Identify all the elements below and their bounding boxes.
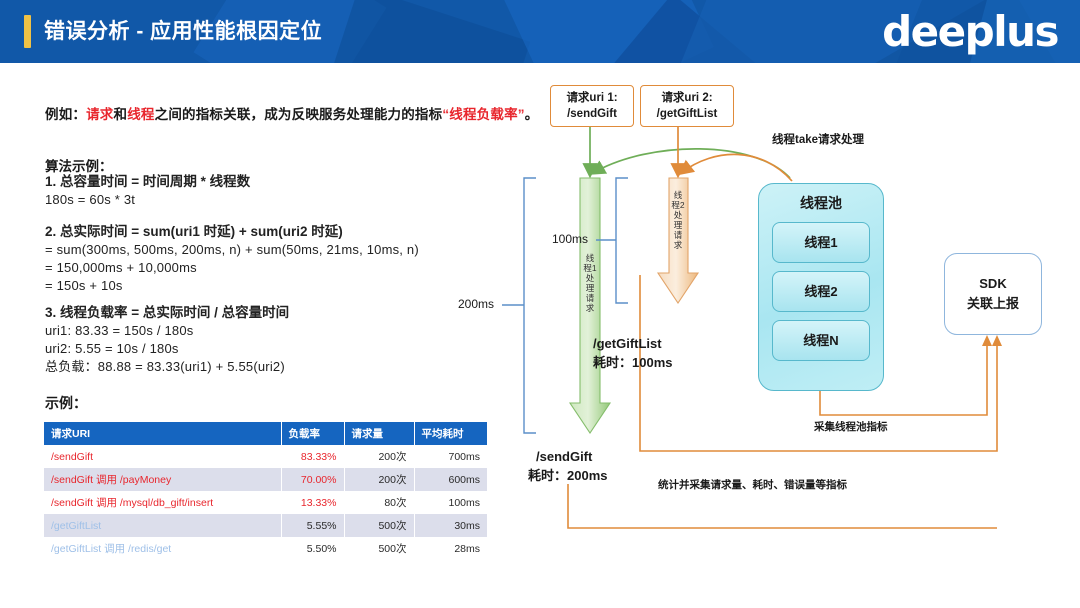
bracket-100ms-label: 100ms [552, 232, 588, 247]
algorithm-block-3-line-2: uri2: 5.55 = 10s / 180s [45, 340, 289, 358]
thread-take-label: 线程take请求处理 [772, 133, 864, 148]
table-row[interactable]: /getGiftList 5.55% 500次 30ms [44, 514, 487, 537]
request-box-uri2[interactable]: 请求uri 2: /getGiftList [640, 85, 734, 127]
sendgift-cost-label: /sendGift 耗时：200ms [528, 447, 607, 485]
algorithm-block-3-heading: 3. 线程负载率 = 总实际时间 / 总容量时间 [45, 303, 289, 322]
cell-uri: /sendGift [44, 445, 281, 468]
thread1-process-label: 线程1处理请求 [583, 253, 597, 313]
getgiftlist-cost-label: /getGiftList 耗时：100ms [593, 334, 672, 372]
table-col-count: 请求量 [344, 422, 414, 445]
request-box-uri2-line1: 请求uri 2: [648, 90, 726, 106]
lead-keyword-thread: 线程 [127, 107, 154, 122]
algorithm-block-2: 2. 总实际时间 = sum(uri1 时延) + sum(uri2 时延) =… [45, 222, 419, 295]
collect-pool-arrowhead [982, 335, 992, 346]
collect-pool-metrics-label: 采集线程池指标 [814, 420, 888, 435]
cell-count: 200次 [344, 445, 414, 468]
thread-item-1[interactable]: 线程1 [772, 222, 870, 263]
cell-uri: /getGiftList [44, 514, 281, 537]
brand-logo: deeplus [882, 9, 1058, 55]
example-table-title: 示例： [45, 393, 87, 413]
request-box-uri1[interactable]: 请求uri 1: /sendGift [550, 85, 634, 127]
collect-stats-label: 统计并采集请求量、耗时、错误量等指标 [658, 478, 847, 493]
cell-load: 70.00% [281, 468, 344, 491]
lead-keyword-request: 请求 [86, 107, 113, 122]
cell-count: 80次 [344, 491, 414, 514]
cell-load: 83.33% [281, 445, 344, 468]
request-box-uri1-line1: 请求uri 1: [558, 90, 626, 106]
sendgift-cost-line1: /sendGift [528, 447, 607, 466]
algorithm-block-2-line-1: = sum(300ms, 500ms, 200ms, n) + sum(50ms… [45, 241, 419, 259]
cell-count: 500次 [344, 537, 414, 560]
green-take-curve [593, 149, 790, 178]
table-col-uri: 请求URI [44, 422, 281, 445]
algorithm-block-3-line-3: 总负载：88.88 = 83.33(uri1) + 5.55(uri2) [45, 358, 289, 376]
cell-count: 500次 [344, 514, 414, 537]
cell-uri: /getGiftList 调用 /redis/get [44, 537, 281, 560]
table-row[interactable]: /getGiftList 调用 /redis/get 5.50% 500次 28… [44, 537, 487, 560]
table-header-row: 请求URI 负载率 请求量 平均耗时 [44, 422, 487, 445]
table-col-load: 负载率 [281, 422, 344, 445]
algorithm-block-3: 3. 线程负载率 = 总实际时间 / 总容量时间 uri1: 83.33 = 1… [45, 303, 289, 376]
thread-item-2[interactable]: 线程2 [772, 271, 870, 312]
cell-load: 13.33% [281, 491, 344, 514]
table-col-avg: 平均耗时 [414, 422, 487, 445]
bracket-200ms [524, 178, 536, 433]
algorithm-block-2-line-3: = 150s + 10s [45, 277, 419, 295]
getgiftlist-cost-line1: /getGiftList [593, 334, 672, 353]
cell-avg: 100ms [414, 491, 487, 514]
cell-uri: /sendGift 调用 /mysql/db_gift/insert [44, 491, 281, 514]
bracket-100ms [616, 178, 628, 303]
orange-take-curve [681, 154, 792, 181]
slide-page: 错误分析 - 应用性能根因定位 deeplus 例如：请求和线程之间的指标关联，… [0, 0, 1080, 608]
sendgift-cost-line2: 耗时：200ms [528, 466, 607, 485]
algorithm-block-3-line-1: uri1: 83.33 = 150s / 180s [45, 322, 289, 340]
title-accent-bar [24, 15, 31, 48]
sdk-line2: 关联上报 [945, 294, 1041, 314]
cell-load: 5.50% [281, 537, 344, 560]
thread2-process-label: 线程2处理请求 [671, 190, 685, 250]
algorithm-block-2-heading: 2. 总实际时间 = sum(uri1 时延) + sum(uri2 时延) [45, 222, 419, 241]
lead-sentence: 例如：请求和线程之间的指标关联，成为反映服务处理能力的指标“线程负载率”。 [45, 103, 538, 123]
algorithm-block-1-line-1: 180s = 60s * 3t [45, 191, 250, 209]
cell-avg: 30ms [414, 514, 487, 537]
cell-uri: /sendGift 调用 /payMoney [44, 468, 281, 491]
algorithm-block-2-line-2: = 150,000ms + 10,000ms [45, 259, 419, 277]
request-box-uri2-line2: /getGiftList [648, 106, 726, 122]
cell-load: 5.55% [281, 514, 344, 537]
cell-avg: 28ms [414, 537, 487, 560]
table-row[interactable]: /sendGift 调用 /mysql/db_gift/insert 13.33… [44, 491, 487, 514]
algorithm-block-1-heading: 1. 总容量时间 = 时间周期 * 线程数 [45, 172, 250, 191]
lead-mid-2: 之间的指标关联，成为反映服务处理能力的指标 [155, 107, 443, 122]
lead-prefix: 例如： [45, 107, 86, 122]
algorithm-block-1: 1. 总容量时间 = 时间周期 * 线程数 180s = 60s * 3t [45, 172, 250, 209]
getgiftlist-metrics-arrowhead [992, 335, 1002, 346]
table-row[interactable]: /sendGift 调用 /payMoney 70.00% 200次 600ms [44, 468, 487, 491]
thread-item-n[interactable]: 线程N [772, 320, 870, 361]
cell-avg: 600ms [414, 468, 487, 491]
request-box-uri1-line2: /sendGift [558, 106, 626, 122]
sdk-line1: SDK [945, 274, 1041, 294]
sdk-box[interactable]: SDK 关联上报 [944, 253, 1042, 335]
slide-header: 错误分析 - 应用性能根因定位 deeplus [0, 0, 1080, 63]
cell-avg: 700ms [414, 445, 487, 468]
table-row[interactable]: /sendGift 83.33% 200次 700ms [44, 445, 487, 468]
thread-pool-title: 线程池 [758, 193, 884, 213]
example-table: 请求URI 负载率 请求量 平均耗时 /sendGift 83.33% 200次… [44, 422, 487, 560]
cell-count: 200次 [344, 468, 414, 491]
bracket-200ms-label: 200ms [458, 297, 494, 312]
architecture-diagram: 请求uri 1: /sendGift 请求uri 2: /getGiftList… [500, 85, 1080, 565]
getgiftlist-cost-line2: 耗时：100ms [593, 353, 672, 372]
lead-mid-1: 和 [114, 107, 128, 122]
page-title: 错误分析 - 应用性能根因定位 [44, 15, 322, 48]
